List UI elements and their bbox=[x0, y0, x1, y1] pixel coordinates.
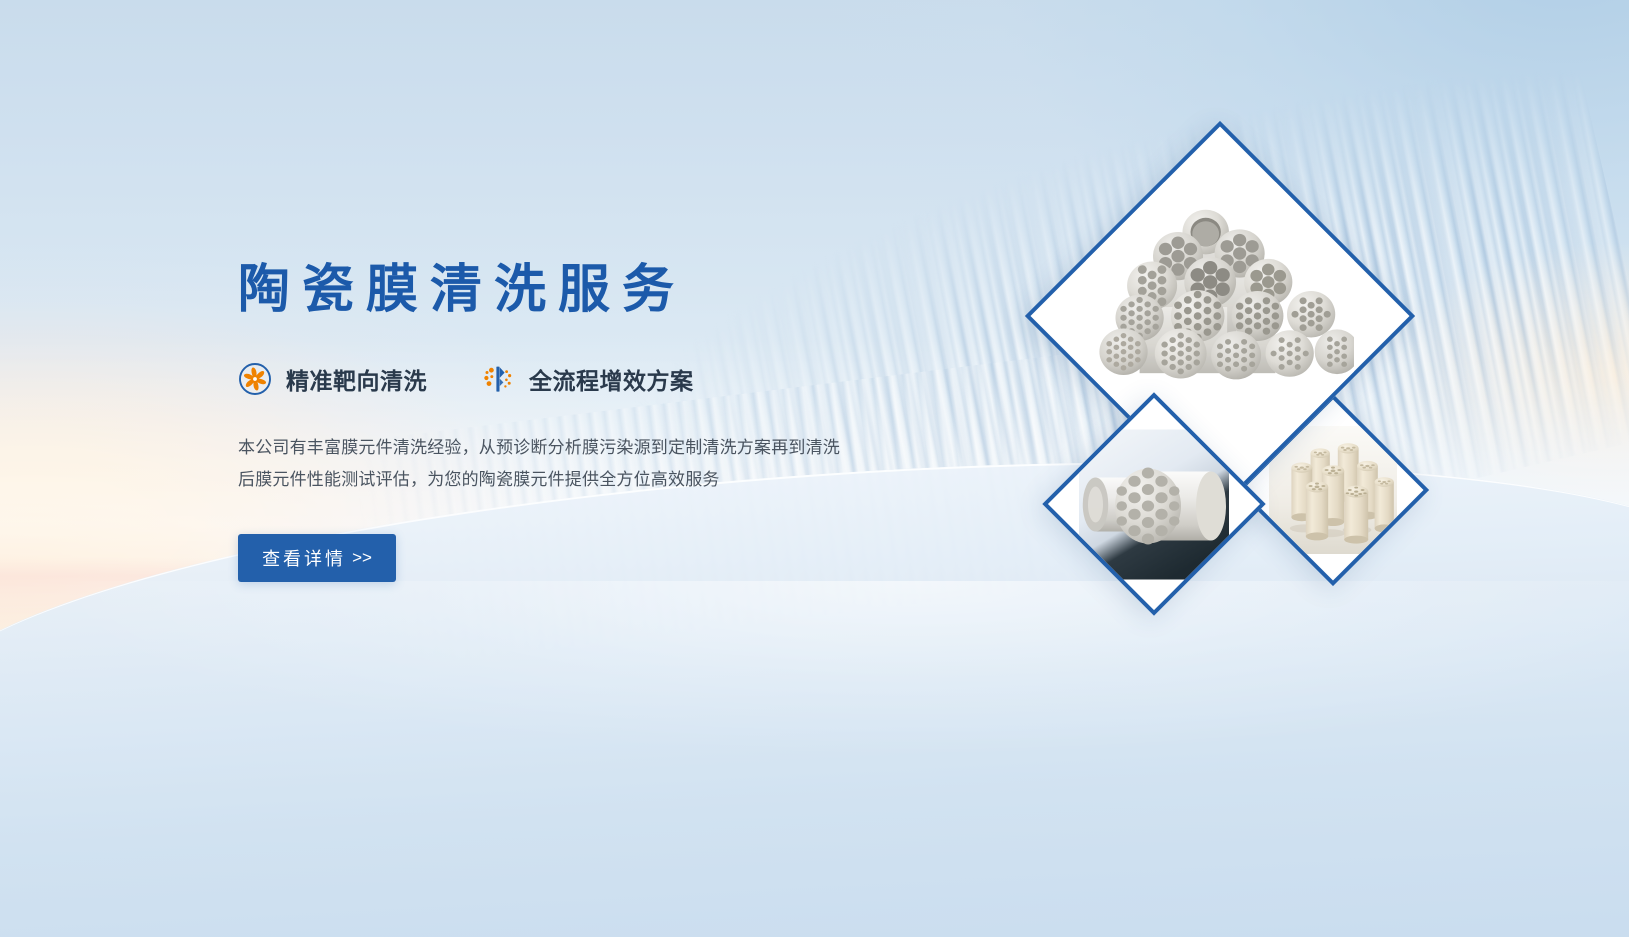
hero-description-line-2: 后膜元件性能测试评估，为您的陶瓷膜元件提供全方位高效服务 bbox=[238, 464, 898, 496]
hero-copy-block: 陶瓷膜清洗服务 bbox=[238, 262, 938, 582]
view-details-label: 查看详情 bbox=[262, 545, 346, 571]
page-title: 陶瓷膜清洗服务 bbox=[238, 262, 938, 318]
feature-item-full-process: 全流程增效方案 bbox=[481, 362, 694, 396]
feature-list: 精准靶向清洗 bbox=[238, 362, 938, 396]
feature-label-full-process: 全流程增效方案 bbox=[529, 362, 694, 396]
flag-dots-icon bbox=[481, 362, 515, 396]
chevron-right-icon: >> bbox=[352, 548, 372, 568]
feature-item-precision-cleaning: 精准靶向清洗 bbox=[238, 362, 427, 396]
ceramic-membrane-group-photo-inner bbox=[1269, 426, 1397, 554]
feature-label-precision-cleaning: 精准靶向清洗 bbox=[286, 362, 427, 396]
ceramic-membrane-stack-photo-inner bbox=[1086, 182, 1354, 450]
hero-description-line-1: 本公司有丰富膜元件清洗经验，从预诊断分析膜污染源到定制清洗方案再到清洗 bbox=[238, 432, 898, 464]
view-details-button[interactable]: 查看详情 >> bbox=[238, 534, 396, 582]
ceramic-membrane-closeup-photo-inner bbox=[1079, 429, 1229, 579]
hero-banner: 陶瓷膜清洗服务 bbox=[0, 0, 1629, 937]
diamond-photo-cluster bbox=[1020, 170, 1440, 640]
hero-description: 本公司有丰富膜元件清洗经验，从预诊断分析膜污染源到定制清洗方案再到清洗 后膜元件… bbox=[238, 432, 898, 496]
pinwheel-icon bbox=[238, 362, 272, 396]
